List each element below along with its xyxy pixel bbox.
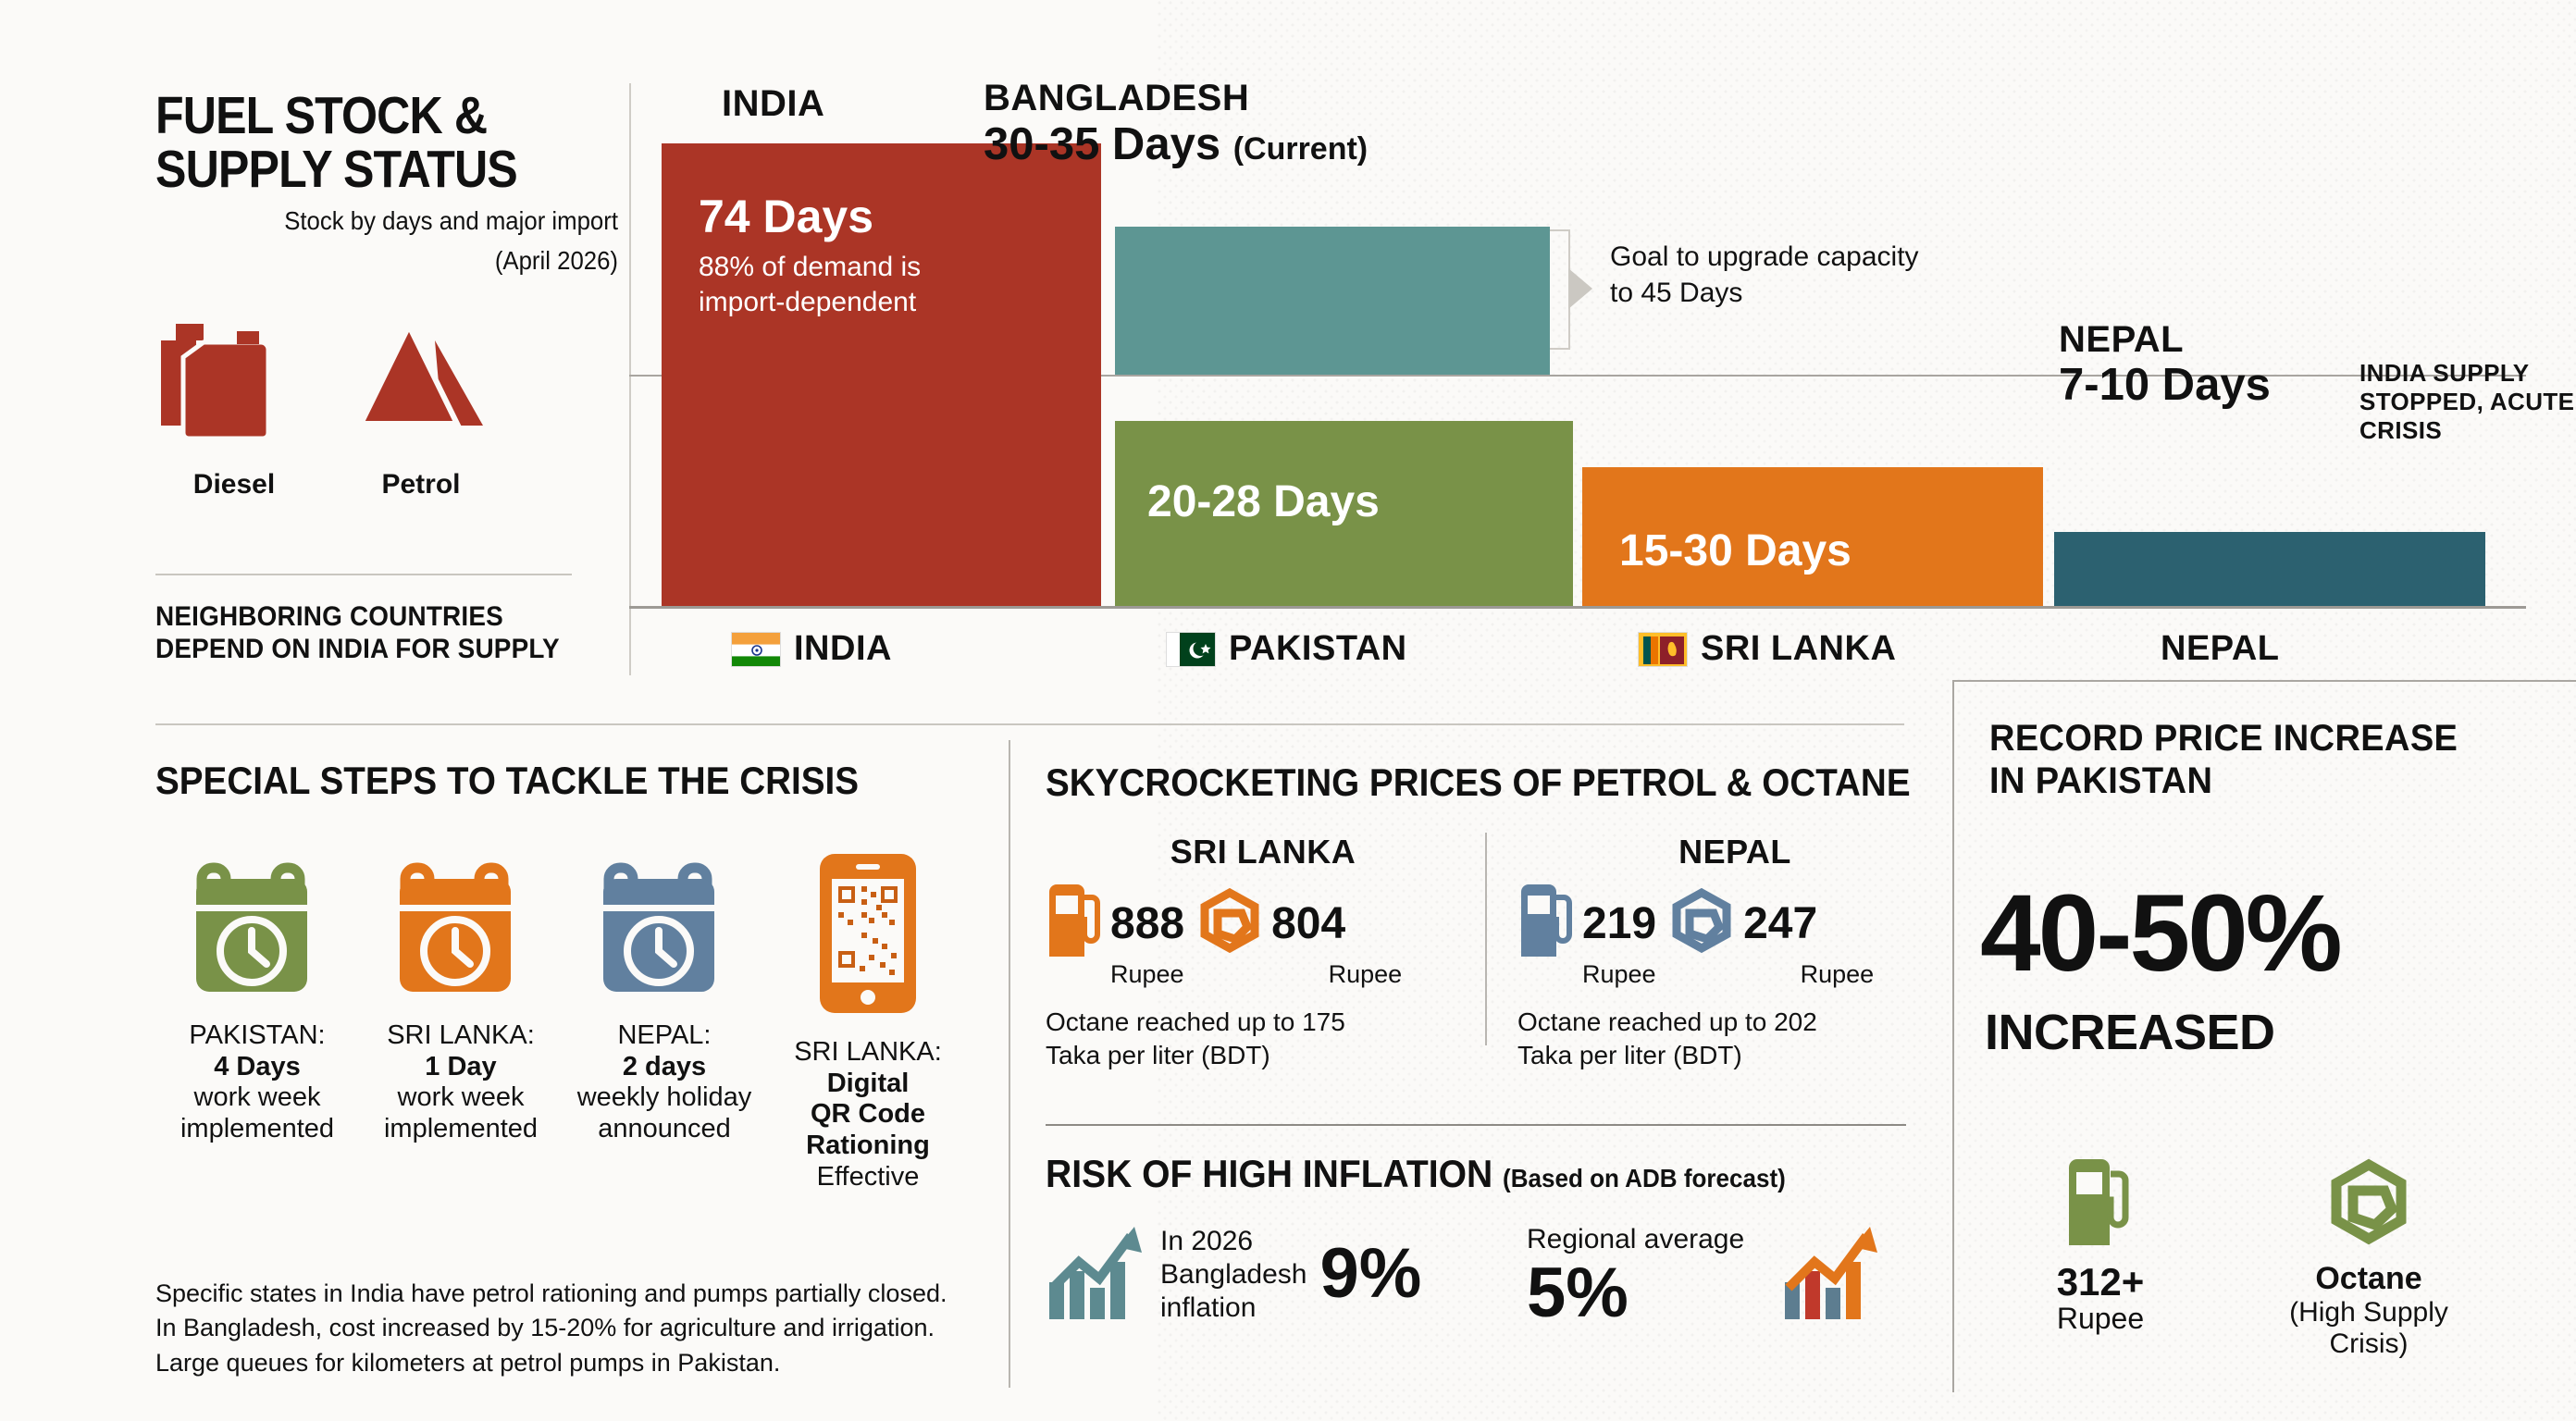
step-bold: 1 Day xyxy=(384,1052,538,1083)
octane-price-unit: Rupee xyxy=(1801,961,1875,989)
value-bangladesh-number: 30-35 Days xyxy=(984,119,1220,169)
fuel-stock-bar-chart: INDIA 74 Days 88% of demand is import-de… xyxy=(629,83,2576,712)
octane-icon xyxy=(1666,885,1738,962)
petrol-price-unit: Rupee xyxy=(1582,961,1656,989)
goal-line-2: to 45 Days xyxy=(1610,275,1919,311)
label-bangladesh: BANGLADESH xyxy=(984,78,1249,119)
steps-title: SPECIAL STEPS TO TACKLE THE CRISIS xyxy=(155,759,859,803)
note-india-line-1: 88% of demand is xyxy=(699,250,1069,285)
value-pakistan: 20-28 Days xyxy=(1147,476,1380,527)
subtitle-line-2: (April 2026) xyxy=(192,245,618,276)
price-footnote-line-1: Octane reached up to 202 xyxy=(1517,1006,1952,1039)
prices-divider-vertical xyxy=(1485,833,1487,1045)
goal-annotation: Goal to upgrade capacity to 45 Days xyxy=(1610,239,1919,311)
goal-arrow-icon xyxy=(1568,268,1592,309)
step-caption: SRI LANKA: Digital QR Code Rationing Eff… xyxy=(794,1037,942,1192)
flag-srilanka-icon xyxy=(1638,632,1688,667)
step-head: SRI LANKA: xyxy=(794,1037,942,1069)
label-nepal: NEPAL xyxy=(2059,319,2184,361)
octane-icon xyxy=(2322,1156,2415,1254)
petrol-price-value: 219 xyxy=(1582,903,1656,945)
note-nepal: INDIA SUPPLY STOPPED, ACUTE CRISIS xyxy=(2359,359,2576,446)
petrol-price-value: 888 xyxy=(1110,903,1184,945)
axis-label-india: INDIA xyxy=(731,629,892,669)
diesel-can-icon xyxy=(155,315,313,458)
infographic-canvas: FUEL STOCK & SUPPLY STATUS Stock by days… xyxy=(0,0,2576,1421)
price-column-nepal: NEPAL 219 247 xyxy=(1517,833,1952,1071)
inflation-bangladesh: In 2026 Bangladesh inflation 9% xyxy=(1046,1221,1421,1328)
chart-axis-labels: INDIA PAKISTAN xyxy=(629,629,2526,694)
goal-bracket xyxy=(1550,229,1570,350)
octane-price-value: 804 xyxy=(1271,903,1345,945)
divider-left xyxy=(155,574,572,575)
neighbor-line-2: DEPEND ON INDIA FOR SUPPLY xyxy=(155,634,620,666)
title-line-1: FUEL STOCK & xyxy=(155,89,563,142)
label-india: INDIA xyxy=(722,83,824,125)
bar-nepal xyxy=(2054,532,2485,606)
right-panel-title-line-1: RECORD PRICE INCREASE xyxy=(1989,717,2458,760)
title-line-2: SUPPLY STATUS xyxy=(155,142,563,196)
axis-label-pakistan: PAKISTAN xyxy=(1166,629,1407,669)
steps-note-line-1: Specific states in India have petrol rat… xyxy=(155,1277,1025,1311)
step-caption: SRI LANKA: 1 Day work week implemented xyxy=(384,1020,538,1145)
goal-line-1: Goal to upgrade capacity xyxy=(1610,239,1919,275)
divider-right-panel-top xyxy=(1952,680,2576,682)
octane-icon xyxy=(1194,885,1266,962)
step-head: PAKISTAN: xyxy=(180,1020,334,1052)
calendar-clock-icon xyxy=(596,851,733,1004)
calendar-clock-icon xyxy=(189,851,326,1004)
price-footnote-line-2: Taka per liter (BDT) xyxy=(1517,1039,1952,1072)
value-bangladesh: 30-35 Days (Current) xyxy=(984,118,1368,170)
neighbor-line-1: NEIGHBORING COUNTRIES xyxy=(155,601,620,634)
axis-label-nepal: NEPAL xyxy=(2161,629,2279,669)
flag-india-icon xyxy=(731,632,781,667)
inflation-left-line-3: inflation xyxy=(1160,1291,1307,1325)
petrol-price-unit: Rupee xyxy=(1110,961,1184,989)
petrol-label: Petrol xyxy=(352,469,490,500)
value-srilanka: 15-30 Days xyxy=(1619,525,1851,576)
right-panel-item-unit: Rupee xyxy=(2057,1302,2144,1336)
price-footnote: Octane reached up to 175 Taka per liter … xyxy=(1046,1006,1480,1072)
note-india-line-2: import-dependent xyxy=(699,285,1069,320)
divider-horizontal-main xyxy=(155,723,1904,725)
note-nepal-line-2: STOPPED, ACUTE CRISIS xyxy=(2359,388,2576,445)
step-line2: QR Code xyxy=(794,1099,942,1131)
step-head: NEPAL: xyxy=(577,1020,752,1052)
step-line2: work week xyxy=(180,1082,334,1114)
inflation-title: RISK OF HIGH INFLATION (Based on ADB for… xyxy=(1046,1152,1786,1196)
step-line3: implemented xyxy=(384,1114,538,1145)
step-line2: work week xyxy=(384,1082,538,1114)
axis-label-nepal-text: NEPAL xyxy=(2161,629,2279,669)
step-item: SRI LANKA: 1 Day work week implemented xyxy=(359,851,563,1192)
inflation-left-text: In 2026 Bangladesh inflation xyxy=(1160,1225,1307,1325)
right-panel-item-value: 312+ xyxy=(2057,1263,2145,1302)
steps-note: Specific states in India have petrol rat… xyxy=(155,1277,1025,1380)
inflation-right-label: Regional average xyxy=(1527,1223,1744,1256)
inflation-regional: Regional average 5% xyxy=(1527,1221,1883,1328)
inflation-right-value: 5% xyxy=(1527,1262,1629,1325)
axis-label-pakistan-text: PAKISTAN xyxy=(1229,629,1407,669)
octane-price-unit: Rupee xyxy=(1329,961,1403,989)
step-head: SRI LANKA: xyxy=(384,1020,538,1052)
right-panel-item: 312+ Rupee xyxy=(1999,1156,2202,1360)
right-panel-item: Octane (High Supply Crisis) xyxy=(2267,1156,2471,1360)
step-item: SRI LANKA: Digital QR Code Rationing Eff… xyxy=(766,851,970,1192)
bar-bangladesh xyxy=(1115,227,1550,375)
price-footnote-line-1: Octane reached up to 175 xyxy=(1046,1006,1480,1039)
step-line2: weekly holiday xyxy=(577,1082,752,1114)
inflation-title-sub: (Based on ADB forecast) xyxy=(1503,1164,1786,1192)
right-panel-title-line-2: IN PAKISTAN xyxy=(1989,760,2458,802)
step-caption: PAKISTAN: 4 Days work week implemented xyxy=(180,1020,334,1145)
price-footnote: Octane reached up to 202 Taka per liter … xyxy=(1517,1006,1952,1072)
growth-chart-up-icon xyxy=(1046,1221,1147,1328)
fuel-pump-icon xyxy=(1517,883,1577,965)
value-india: 74 Days xyxy=(699,190,873,243)
inflation-left-value: 9% xyxy=(1319,1242,1421,1305)
fuel-type-icons: Diesel Petrol xyxy=(155,315,526,500)
axis-label-india-text: INDIA xyxy=(794,629,892,669)
subtitle-line-1: Stock by days and major import xyxy=(192,205,618,236)
axis-label-srilanka-text: SRI LANKA xyxy=(1701,629,1896,669)
step-item: PAKISTAN: 4 Days work week implemented xyxy=(155,851,359,1192)
steps-note-line-3: Large queues for kilometers at petrol pu… xyxy=(155,1346,1025,1380)
prices-title: SKYCROCKETING PRICES OF PETROL & OCTANE xyxy=(1046,760,1911,805)
divider-vertical-right xyxy=(1952,680,1954,1392)
price-footnote-line-2: Taka per liter (BDT) xyxy=(1046,1039,1480,1072)
price-country-label: SRI LANKA xyxy=(1046,833,1480,871)
note-nepal-line-1: INDIA SUPPLY xyxy=(2359,359,2576,388)
phone-qr-icon xyxy=(817,851,919,1020)
note-india: 88% of demand is import-dependent xyxy=(699,250,1069,319)
chart-baseline xyxy=(629,606,2526,609)
octane-price-value: 247 xyxy=(1743,903,1817,945)
step-line4: Effective xyxy=(794,1162,942,1193)
chart-axis-vertical xyxy=(629,83,631,675)
calendar-clock-icon xyxy=(392,851,529,1004)
right-panel-title: RECORD PRICE INCREASE IN PAKISTAN xyxy=(1989,717,2458,802)
inflation-left-line-2: Bangladesh xyxy=(1160,1258,1307,1291)
step-line3: announced xyxy=(577,1114,752,1145)
axis-label-srilanka: SRI LANKA xyxy=(1638,629,1896,669)
value-nepal: 7-10 Days xyxy=(2059,359,2271,411)
inflation-left-line-1: In 2026 xyxy=(1160,1225,1307,1258)
step-bold: Digital xyxy=(794,1069,942,1100)
diesel-label: Diesel xyxy=(155,469,313,500)
right-panel-item-sublabel: (High Supply Crisis) xyxy=(2267,1297,2471,1360)
steps-note-line-2: In Bangladesh, cost increased by 15-20% … xyxy=(155,1311,1025,1345)
inflation-title-main: RISK OF HIGH INFLATION xyxy=(1046,1152,1492,1195)
page-title: FUEL STOCK & SUPPLY STATUS Stock by days… xyxy=(155,89,618,276)
right-panel-items: 312+ Rupee Octane (High Supply Crisis) xyxy=(1999,1156,2554,1360)
step-line3: implemented xyxy=(180,1114,334,1145)
fuel-pump-icon xyxy=(1046,883,1105,965)
step-bold: 4 Days xyxy=(180,1052,334,1083)
petrol-mountain-icon xyxy=(353,315,492,458)
step-line3: Rationing xyxy=(794,1131,942,1162)
step-bold: 2 days xyxy=(577,1052,752,1083)
right-panel-item-label: Octane xyxy=(2315,1261,2421,1297)
right-panel-big-sub: INCREASED xyxy=(1985,1004,2275,1061)
steps-list: PAKISTAN: 4 Days work week implemented S… xyxy=(155,851,970,1192)
right-panel-big-value: 40-50% xyxy=(1980,883,2340,984)
neighbor-supply-note: NEIGHBORING COUNTRIES DEPEND ON INDIA FO… xyxy=(155,601,620,666)
flag-pakistan-icon xyxy=(1166,632,1216,667)
step-item: NEPAL: 2 days weekly holiday announced xyxy=(563,851,766,1192)
price-column-srilanka: SRI LANKA 888 xyxy=(1046,833,1480,1071)
prices-divider-horizontal xyxy=(1046,1124,1906,1126)
step-caption: NEPAL: 2 days weekly holiday announced xyxy=(577,1020,752,1145)
price-country-label: NEPAL xyxy=(1517,833,1952,871)
value-bangladesh-suffix: (Current) xyxy=(1233,131,1368,167)
fuel-pump-icon xyxy=(2064,1156,2136,1254)
growth-chart-up-icon xyxy=(1781,1221,1883,1328)
